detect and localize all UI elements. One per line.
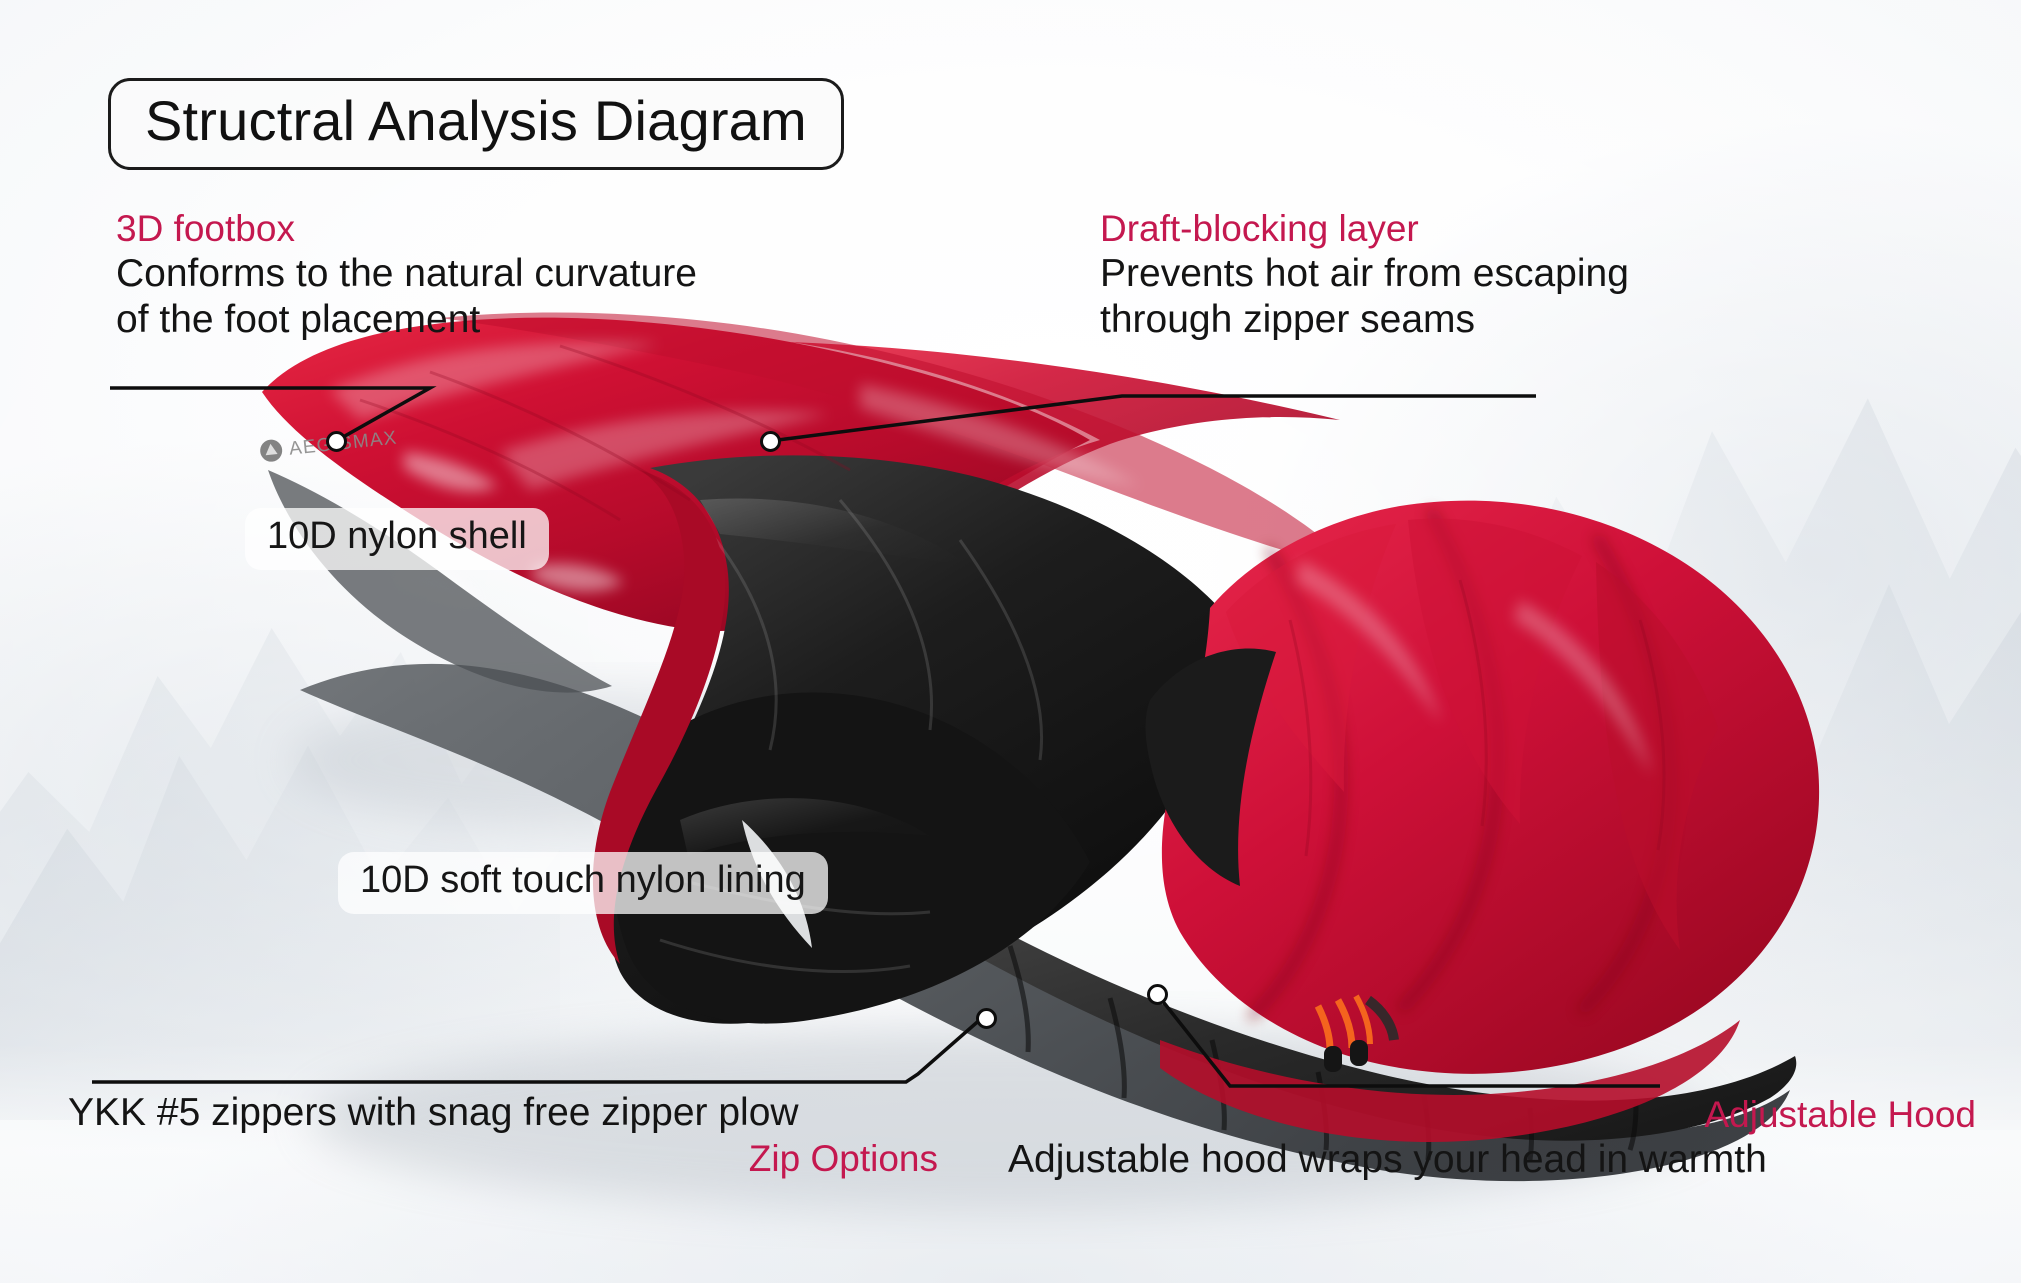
pill-nylon-lining: 10D soft touch nylon lining <box>338 852 828 914</box>
diagram-title-box: Structral Analysis Diagram <box>108 78 844 170</box>
callout-footbox-line-2: of the foot placement <box>116 297 697 344</box>
callout-draft-blocking-line-2: through zipper seams <box>1100 297 1629 344</box>
infographic-canvas: AEGISMAX Structral A <box>0 0 2021 1283</box>
callout-zip-options-line-1: YKK #5 zippers with snag free zipper plo… <box>68 1090 938 1137</box>
callout-footbox: 3D footbox Conforms to the natural curva… <box>116 207 697 344</box>
callout-footbox-line-1: Conforms to the natural curvature <box>116 251 697 298</box>
zipper-callout-dot <box>976 1008 997 1029</box>
callout-zip-options-heading: Zip Options <box>68 1137 938 1181</box>
hood-callout-dot <box>1147 984 1168 1005</box>
callout-adjustable-hood: Adjustable Hood Adjustable hood wraps yo… <box>1008 1093 1988 1183</box>
pill-nylon-shell: 10D nylon shell <box>245 508 549 570</box>
draft-blocking-callout-dot <box>760 431 781 452</box>
pill-nylon-shell-label: 10D nylon shell <box>267 515 527 557</box>
callout-adjustable-hood-line-1: Adjustable hood wraps your head in warmt… <box>1008 1137 1988 1184</box>
footbox-callout-dot <box>326 431 347 452</box>
callout-draft-blocking: Draft-blocking layer Prevents hot air fr… <box>1100 207 1629 344</box>
callout-draft-blocking-heading: Draft-blocking layer <box>1100 207 1629 251</box>
callout-draft-blocking-line-1: Prevents hot air from escaping <box>1100 251 1629 298</box>
callout-footbox-heading: 3D footbox <box>116 207 697 251</box>
pill-nylon-lining-label: 10D soft touch nylon lining <box>360 859 806 901</box>
callout-adjustable-hood-heading: Adjustable Hood <box>1008 1093 1988 1137</box>
callout-zip-options: YKK #5 zippers with snag free zipper plo… <box>68 1090 938 1180</box>
page-title: Structral Analysis Diagram <box>145 93 807 149</box>
